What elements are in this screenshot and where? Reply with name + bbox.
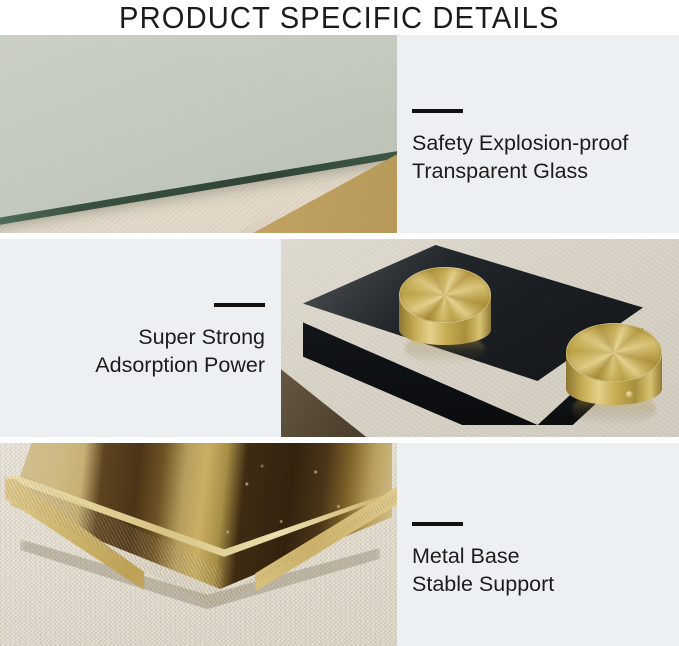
knob-set-screw [626, 391, 633, 398]
feature-panel-adsorption: Super Strong Adsorption Power [0, 239, 679, 437]
caption-line-1: Safety Explosion-proof [412, 129, 628, 157]
glass-corner-photo [0, 35, 397, 233]
brass-knob-rear [399, 267, 491, 345]
caption-rule [412, 522, 463, 526]
page-title-bar: PRODUCT SPECIFIC DETAILS [0, 0, 679, 35]
caption-rule [214, 303, 265, 307]
knob-top-rim [399, 267, 491, 323]
glass-caption: Safety Explosion-proof Transparent Glass [412, 129, 628, 185]
caption-line-2: Transparent Glass [412, 157, 628, 185]
caption-line-2: Stable Support [412, 570, 554, 598]
metal-base-caption: Metal Base Stable Support [412, 542, 554, 598]
adsorption-caption: Super Strong Adsorption Power [95, 323, 265, 379]
feature-panel-metal-base: Metal Base Stable Support [0, 443, 679, 646]
caption-line-1: Super Strong [95, 323, 265, 351]
caption-line-2: Adsorption Power [95, 351, 265, 379]
caption-line-1: Metal Base [412, 542, 554, 570]
product-detail-infographic: PRODUCT SPECIFIC DETAILS Safety Explosio… [0, 0, 679, 646]
brass-knobs-photo [281, 239, 679, 437]
glass-caption-panel: Safety Explosion-proof Transparent Glass [397, 35, 679, 233]
caption-rule [412, 109, 463, 113]
feature-panel-glass: Safety Explosion-proof Transparent Glass [0, 35, 679, 233]
page-title: PRODUCT SPECIFIC DETAILS [119, 2, 560, 33]
knob-top-rim [566, 323, 662, 382]
adsorption-caption-panel: Super Strong Adsorption Power [0, 239, 281, 437]
metal-base-caption-panel: Metal Base Stable Support [397, 443, 679, 646]
gold-base-photo [0, 443, 397, 646]
brass-knob-front [566, 323, 662, 405]
